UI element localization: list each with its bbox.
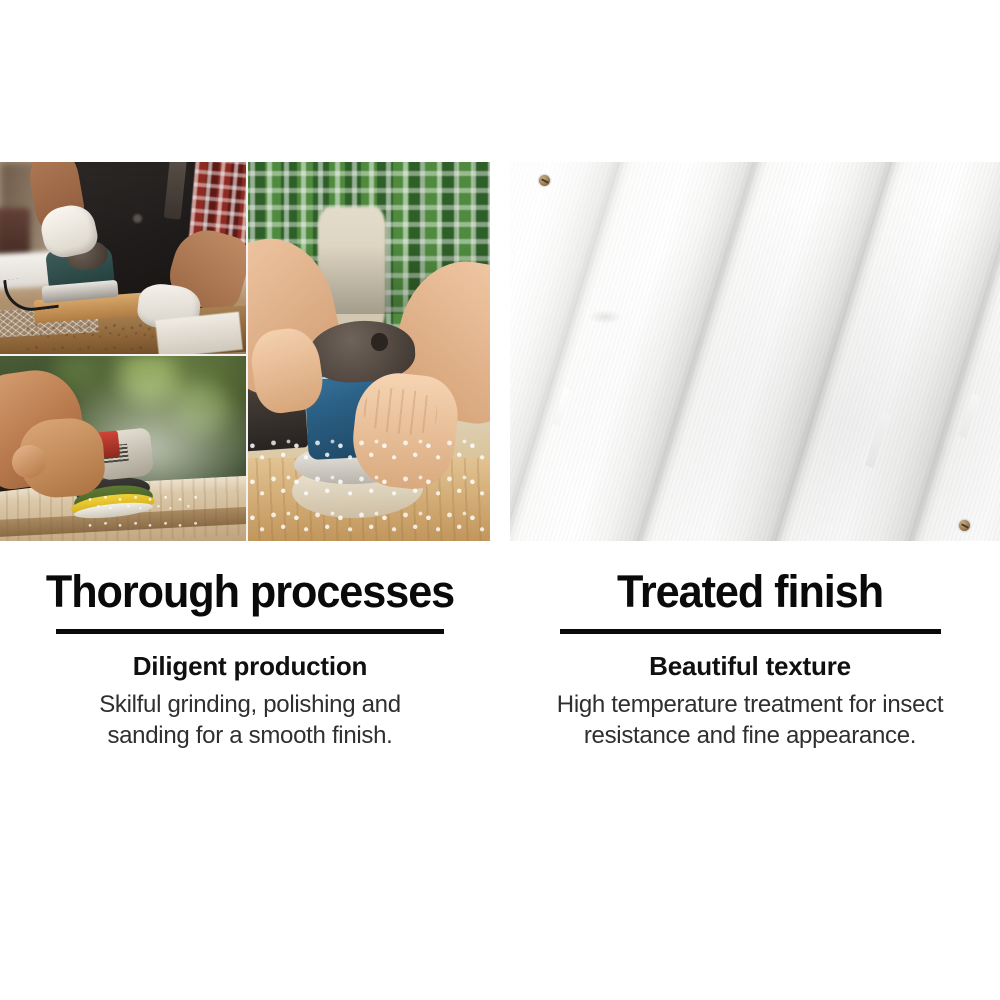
feature-column-treated-finish: Treated finish Beautiful texture High te… [500, 560, 1000, 780]
belt-sander-workshop-photo [0, 162, 246, 354]
body-text-thorough-processes: Skilful grinding, polishing and sanding … [70, 690, 430, 751]
body-text-treated-finish: High temperature treatment for insect re… [540, 690, 960, 751]
screw-icon [539, 175, 550, 186]
subhead-diligent-production: Diligent production [0, 652, 500, 682]
orbital-sander-pine-photo [248, 162, 490, 541]
subhead-beautiful-texture: Beautiful texture [500, 652, 1000, 682]
text-band: Thorough processes Diligent production S… [0, 560, 1000, 780]
headline-thorough-processes: Thorough processes [10, 560, 490, 617]
white-painted-slats-photo [510, 162, 1000, 541]
left-media-collage [0, 162, 490, 541]
promo-page: Thorough processes Diligent production S… [0, 0, 1000, 1000]
headline-divider [560, 629, 941, 634]
feature-column-thorough-processes: Thorough processes Diligent production S… [0, 560, 500, 780]
media-band [0, 162, 1000, 541]
angle-grinder-polisher-photo [0, 356, 246, 541]
screw-icon [959, 520, 970, 531]
headline-treated-finish: Treated finish [510, 560, 990, 617]
headline-divider [56, 629, 444, 634]
